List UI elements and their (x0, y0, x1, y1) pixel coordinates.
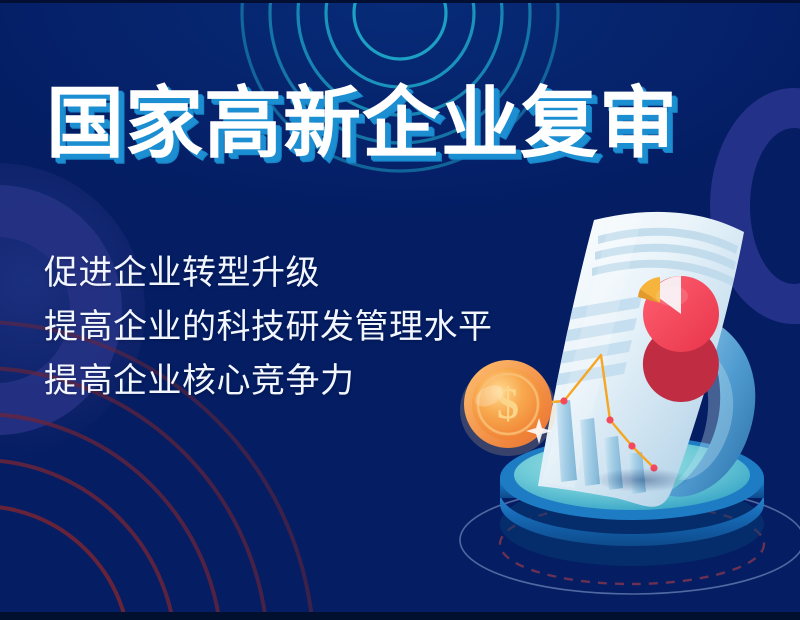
subtitle-line-2: 提高企业的科技研发管理水平 (44, 300, 493, 354)
page-title: 国家高新企业复审 (46, 84, 678, 162)
poster-canvas: $ 国家高新企业复审 促进企业转型升级 提高企业的科技研发管理水平 提高企业核心… (0, 0, 800, 620)
bottom-edge-strip (0, 612, 800, 620)
subtitle-line-1: 促进企业转型升级 (44, 246, 493, 300)
coin-currency-symbol: $ (497, 379, 519, 428)
subtitle-line-3: 提高企业核心竞争力 (44, 354, 493, 408)
top-edge-strip (0, 0, 800, 3)
hero-illustration: $ (446, 192, 800, 620)
subtitle-block: 促进企业转型升级 提高企业的科技研发管理水平 提高企业核心竞争力 (44, 246, 493, 408)
